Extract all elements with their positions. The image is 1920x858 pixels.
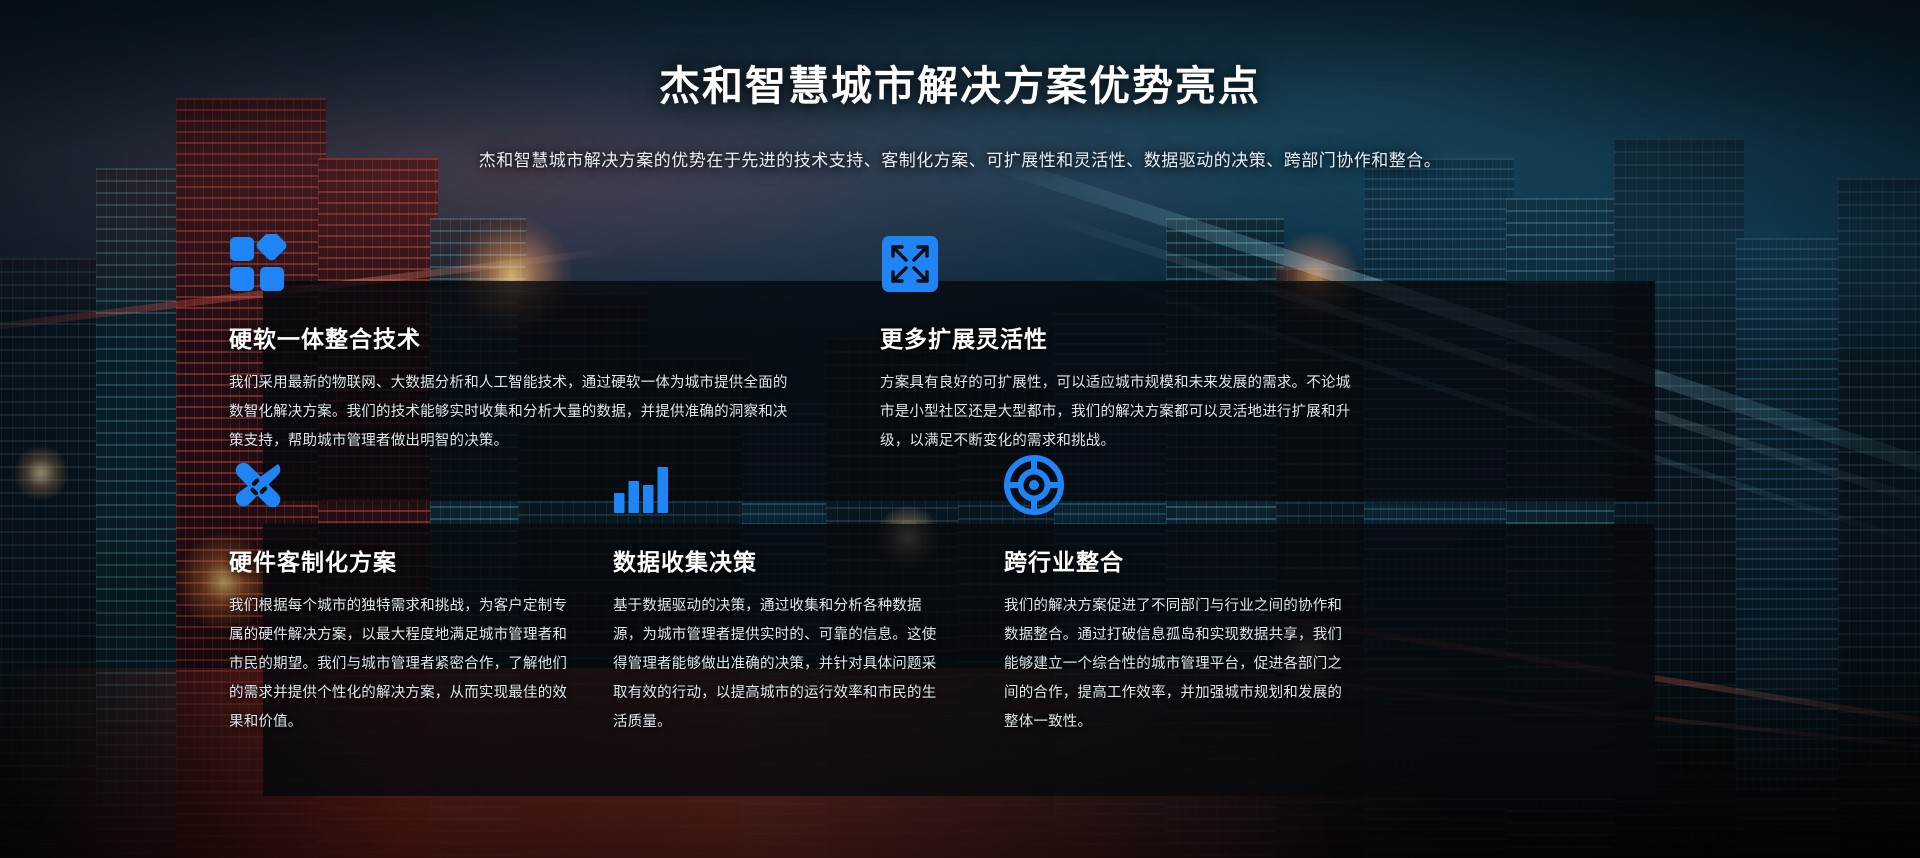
feature-card-scalability[interactable]: 更多扩展灵活性 方案具有良好的可扩展性，可以适应城市规模和未来发展的需求。不论城… (880, 234, 1355, 456)
feature-card-title: 硬软一体整合技术 (229, 320, 794, 354)
feature-card-description: 我们采用最新的物联网、大数据分析和人工智能技术，通过硬软一体为城市提供全面的数智… (229, 369, 794, 456)
feature-card-cross-industry-integration[interactable]: 跨行业整合 我们的解决方案促进了不同部门与行业之间的协作和数据整合。通过打破信息… (1004, 455, 1356, 737)
feature-card-hardware-customization[interactable]: 硬件客制化方案 我们根据每个城市的独特需求和挑战，为客户定制专属的硬件解决方案，… (229, 455, 574, 737)
crosshair-target-icon (1004, 455, 1064, 515)
slide-stage: 杰和智慧城市解决方案优势亮点 杰和智慧城市解决方案的优势在于先进的技术支持、客制… (0, 0, 1920, 858)
feature-card-description: 基于数据驱动的决策，通过收集和分析各种数据源，为城市管理者提供实时的、可靠的信息… (613, 592, 943, 737)
feature-card-description: 我们的解决方案促进了不同部门与行业之间的协作和数据整合。通过打破信息孤岛和实现数… (1004, 592, 1356, 737)
expand-arrows-icon (880, 234, 940, 294)
feature-card-hardware-software-integration[interactable]: 硬软一体整合技术 我们采用最新的物联网、大数据分析和人工智能技术，通过硬软一体为… (229, 234, 794, 456)
feature-card-title: 数据收集决策 (613, 543, 943, 577)
feature-card-description: 方案具有良好的可扩展性，可以适应城市规模和未来发展的需求。不论城市是小型社区还是… (880, 369, 1355, 456)
feature-card-title: 硬件客制化方案 (229, 543, 574, 577)
bar-chart-icon (613, 455, 673, 515)
crossed-tools-icon (229, 455, 289, 515)
feature-card-title: 跨行业整合 (1004, 543, 1356, 577)
four-tiles-icon (229, 234, 289, 294)
feature-card-description: 我们根据每个城市的独特需求和挑战，为客户定制专属的硬件解决方案，以最大程度地满足… (229, 592, 574, 737)
slide-content: 杰和智慧城市解决方案优势亮点 杰和智慧城市解决方案的优势在于先进的技术支持、客制… (0, 0, 1920, 858)
feature-card-grid: 硬软一体整合技术 我们采用最新的物联网、大数据分析和人工智能技术，通过硬软一体为… (0, 0, 1920, 858)
feature-card-data-driven-decisions[interactable]: 数据收集决策 基于数据驱动的决策，通过收集和分析各种数据源，为城市管理者提供实时… (613, 455, 943, 737)
feature-card-title: 更多扩展灵活性 (880, 320, 1355, 354)
